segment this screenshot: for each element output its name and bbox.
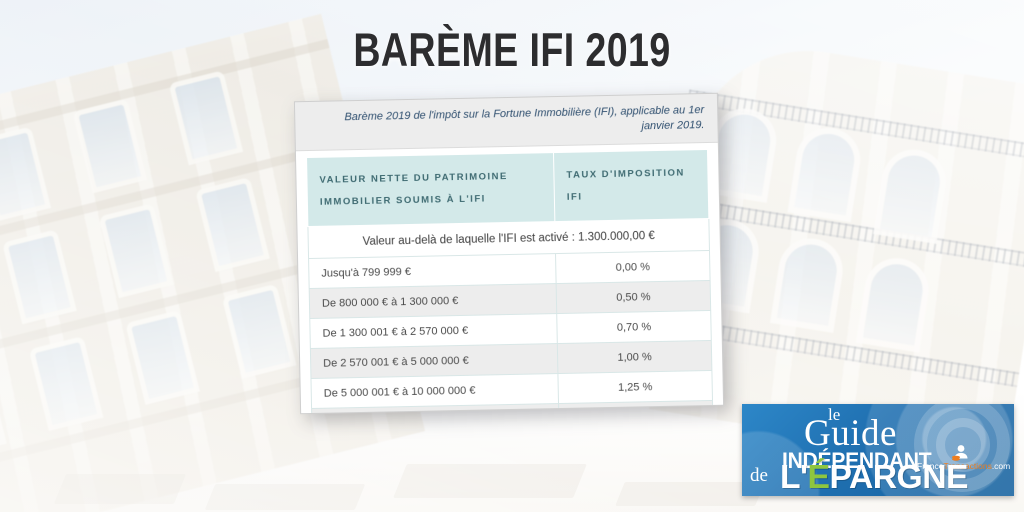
guide-epargne-logo[interactable]: le Guide INDÉPENDANT FranceTransactions.… xyxy=(742,404,1014,496)
bracket-rate: 1,00 % xyxy=(557,340,712,373)
column-header-patrimoine: VALEUR NETTE DU PATRIMOINE IMMOBILIER SO… xyxy=(307,153,555,227)
bracket-label: De 5 000 001 € à 10 000 000 € xyxy=(311,374,559,409)
bracket-rate: 0,70 % xyxy=(557,310,712,343)
bracket-label: De 1 300 001 € à 2 570 000 € xyxy=(310,314,558,349)
logo-word-epargne: L'ÉPARGNE xyxy=(780,460,968,493)
table-body: Valeur au-delà de laquelle l'IFI est act… xyxy=(308,218,713,414)
bracket-rate: 0,00 % xyxy=(556,250,711,283)
barometer-card: Barème 2019 de l'impôt sur la Fortune Im… xyxy=(294,93,724,414)
table-caption: Barème 2019 de l'impôt sur la Fortune Im… xyxy=(295,94,718,151)
partner-brand-part-com: .com xyxy=(992,461,1010,471)
table-header-row: VALEUR NETTE DU PATRIMOINE IMMOBILIER SO… xyxy=(307,149,709,226)
column-header-patrimoine-line2: IMMOBILIER SOUMIS À L'IFI xyxy=(320,187,542,213)
bracket-rate: 0,50 % xyxy=(556,280,711,313)
logo-epargne-accent: É xyxy=(808,458,830,495)
logo-word-guide: Guide xyxy=(804,415,897,452)
bracket-label: De 2 570 001 € à 5 000 000 € xyxy=(310,344,558,379)
bracket-label: De 800 000 € à 1 300 000 € xyxy=(309,284,557,319)
bracket-rate: 1,25 % xyxy=(558,370,713,403)
page-title: BARÈME IFI 2019 xyxy=(102,22,921,77)
logo-word-de: de xyxy=(750,466,768,485)
column-header-taux: TAUX D'IMPOSITION IFI xyxy=(553,149,708,221)
bracket-label: Jusqu'à 799 999 € xyxy=(309,254,557,289)
ifi-rates-table: VALEUR NETTE DU PATRIMOINE IMMOBILIER SO… xyxy=(306,149,714,414)
logo-epargne-suffix: PARGNE xyxy=(830,458,968,495)
logo-epargne-prefix: L' xyxy=(780,458,808,495)
